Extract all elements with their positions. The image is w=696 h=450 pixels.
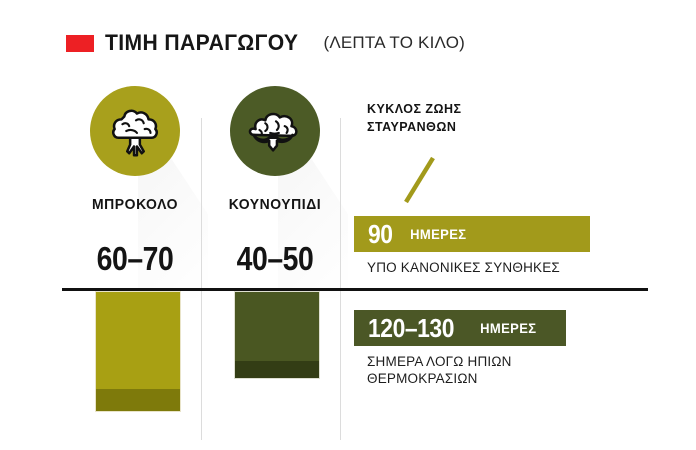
product-price-cauliflower: 40–50 xyxy=(223,240,328,278)
lifecycle-heading-line1: ΚΥΚΛΟΣ ΖΩΗΣ xyxy=(367,100,461,118)
red-square-marker-icon xyxy=(66,35,94,52)
cauliflower-icon-badge xyxy=(230,86,320,176)
cauliflower-icon xyxy=(244,100,306,162)
title-subtitle-text: (ΛΕΠΤΑ ΤΟ ΚΙΛΟ) xyxy=(323,33,465,53)
broccoli-icon-badge xyxy=(90,86,180,176)
price-bar-cauliflower-base xyxy=(235,361,319,378)
lifecycle-bar-normal: 90 ΗΜΕΡΕΣ xyxy=(354,216,590,252)
lifecycle-unit-today: ΗΜΕΡΕΣ xyxy=(480,320,536,336)
page-title: ΤΙΜΗ ΠΑΡΑΓΩΓΟΥ (ΛΕΠΤΑ ΤΟ ΚΙΛΟ) xyxy=(66,30,465,56)
lifecycle-bar-today: 120–130 ΗΜΕΡΕΣ xyxy=(354,310,566,346)
product-column-broccoli: ΜΠΡΟΚΟΛΟ 60–70 xyxy=(74,86,196,278)
product-label-cauliflower: ΚΟΥΝΟΥΠΙΔΙ xyxy=(218,196,331,213)
lifecycle-caption-today: ΣΗΜΕΡΑ ΛΟΓΩ ΗΠΙΩΝ ΘΕΡΜΟΚΡΑΣΙΩΝ xyxy=(367,353,512,387)
price-bar-cauliflower xyxy=(234,291,320,379)
lifecycle-days-today: 120–130 xyxy=(368,315,454,341)
pointer-line-icon xyxy=(400,152,444,208)
lifecycle-caption-normal-line1: ΥΠΟ ΚΑΝΟΝΙΚΕΣ ΣΥΝΘΗΚΕΣ xyxy=(367,259,560,276)
product-column-cauliflower: ΚΟΥΝΟΥΠΙΔΙ 40–50 xyxy=(214,86,336,278)
lifecycle-caption-today-line1: ΣΗΜΕΡΑ ΛΟΓΩ ΗΠΙΩΝ xyxy=(367,353,512,370)
lifecycle-heading: ΚΥΚΛΟΣ ΖΩΗΣ ΣΤΑΥΡΑΝΘΩΝ xyxy=(367,100,461,136)
lifecycle-caption-normal: ΥΠΟ ΚΑΝΟΝΙΚΕΣ ΣΥΝΘΗΚΕΣ xyxy=(367,259,560,276)
column-divider xyxy=(340,118,341,440)
product-price-broccoli: 60–70 xyxy=(83,240,188,278)
lifecycle-caption-today-line2: ΘΕΡΜΟΚΡΑΣΙΩΝ xyxy=(367,370,512,387)
product-label-broccoli: ΜΠΡΟΚΟΛΟ xyxy=(78,196,191,213)
lifecycle-unit-normal: ΗΜΕΡΕΣ xyxy=(410,226,466,242)
title-main-text: ΤΙΜΗ ΠΑΡΑΓΩΓΟΥ xyxy=(105,30,298,56)
price-bar-broccoli-base xyxy=(96,389,180,411)
price-bar-broccoli xyxy=(95,291,181,412)
column-divider xyxy=(201,118,202,440)
lifecycle-days-normal: 90 xyxy=(368,221,393,247)
lifecycle-heading-line2: ΣΤΑΥΡΑΝΘΩΝ xyxy=(367,118,461,136)
infographic-root: ΤΙΜΗ ΠΑΡΑΓΩΓΟΥ (ΛΕΠΤΑ ΤΟ ΚΙΛΟ) ΜΠ xyxy=(0,0,696,450)
broccoli-icon xyxy=(104,100,166,162)
